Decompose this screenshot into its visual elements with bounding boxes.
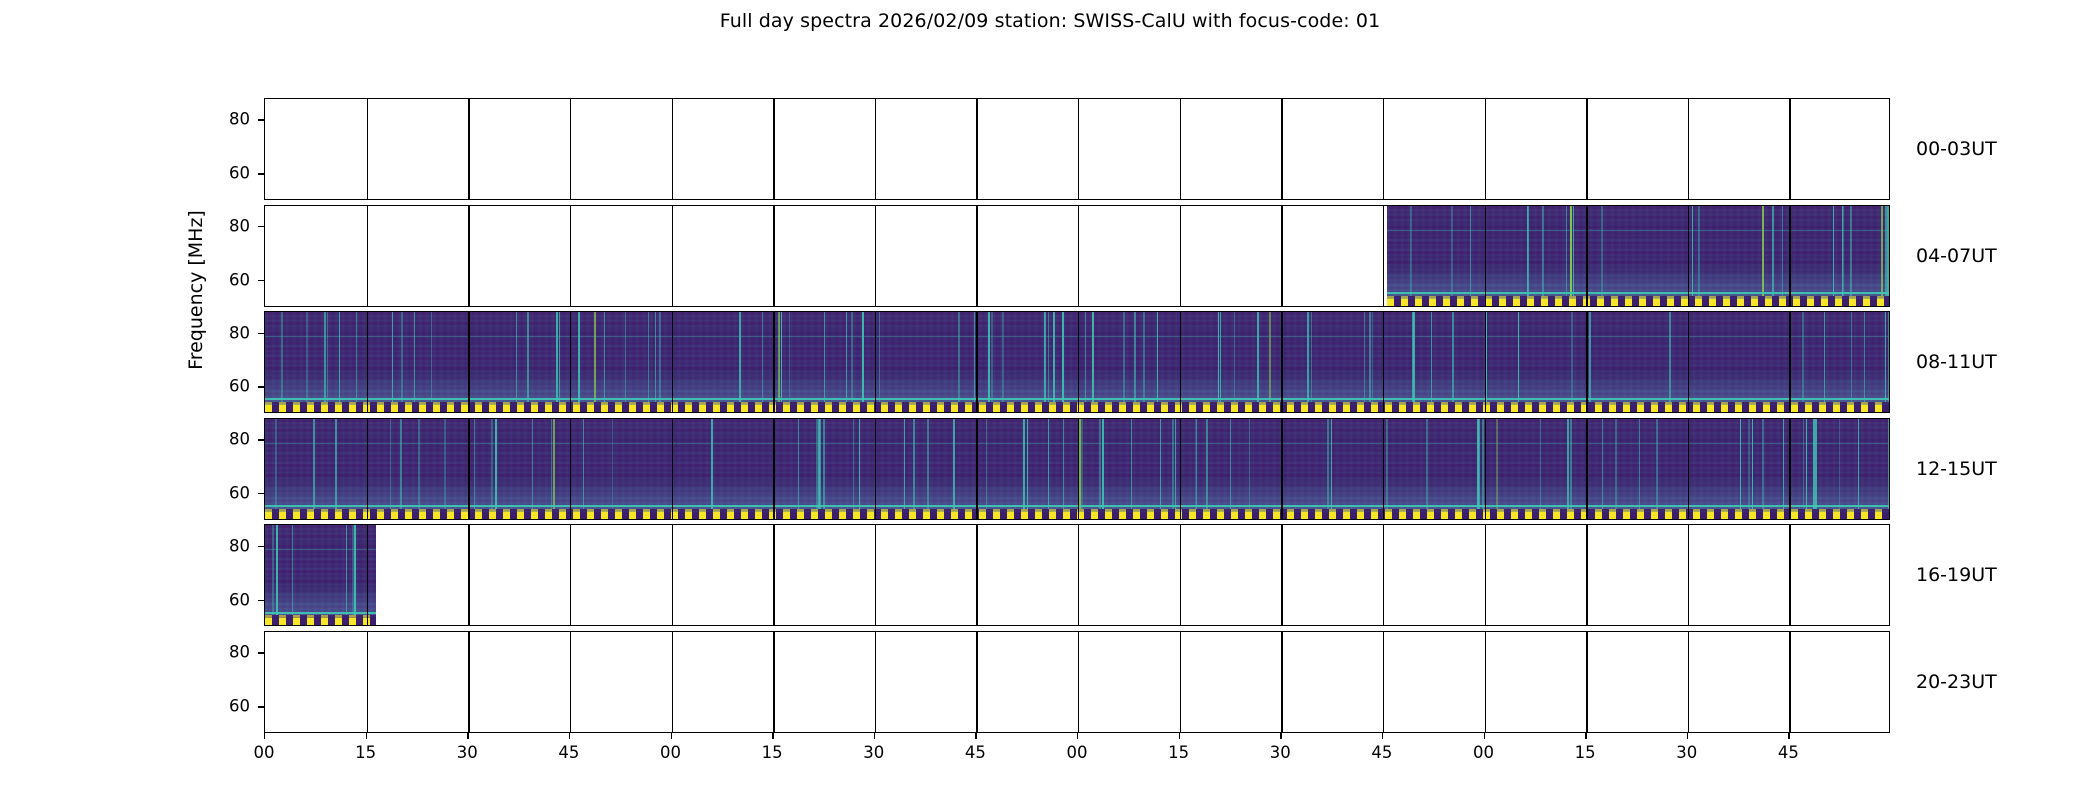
rfi-vertical-streak xyxy=(444,419,446,509)
spectrogram-panel xyxy=(264,631,1890,733)
segment-divider xyxy=(570,525,571,625)
x-axis-tick xyxy=(366,733,367,739)
y-axis-tick-label: 60 xyxy=(210,377,250,396)
segment-divider xyxy=(672,525,673,625)
rfi-vertical-streak xyxy=(913,419,915,509)
rfi-vertical-streak xyxy=(1157,312,1158,402)
rfi-vertical-streak xyxy=(1806,419,1807,509)
rfi-vertical-streak xyxy=(798,419,799,509)
rfi-vertical-streak xyxy=(1257,312,1259,402)
rfi-vertical-streak xyxy=(313,419,315,509)
row-time-label: 08-11UT xyxy=(1916,351,1997,373)
x-axis-tick-label: 45 xyxy=(1768,743,1808,762)
y-axis-tick-label: 80 xyxy=(210,643,250,662)
rfi-vertical-streak xyxy=(327,312,328,402)
rfi-vertical-streak xyxy=(1815,419,1817,509)
y-axis-tick xyxy=(258,600,264,601)
panel-plot-area xyxy=(265,312,1889,412)
quarter-hour-separators xyxy=(265,632,1889,732)
rfi-vertical-streak xyxy=(527,312,529,402)
segment-divider xyxy=(1281,632,1282,732)
segment-divider xyxy=(1180,206,1181,306)
rfi-vertical-streak xyxy=(1023,419,1025,509)
rfi-vertical-streak xyxy=(1327,419,1329,509)
rfi-vertical-streak xyxy=(1567,419,1569,509)
saturated-bottom-band xyxy=(1387,299,1889,306)
segment-divider xyxy=(773,206,774,306)
rfi-vertical-streak xyxy=(1842,206,1843,296)
rfi-vertical-streak xyxy=(1172,419,1174,509)
rfi-vertical-streak xyxy=(1782,206,1783,296)
rfi-vertical-streak xyxy=(1570,419,1572,509)
segment-divider xyxy=(1078,525,1079,625)
segment-divider xyxy=(1383,99,1384,199)
rfi-vertical-streak xyxy=(1615,419,1617,509)
horizontal-emission-line xyxy=(265,612,376,614)
horizontal-emission-line-upper xyxy=(265,443,1889,444)
segment-divider xyxy=(875,206,876,306)
rfi-vertical-streak xyxy=(1881,206,1883,296)
rfi-vertical-streak xyxy=(1540,419,1541,509)
x-axis-tick-label: 30 xyxy=(1260,743,1300,762)
rfi-vertical-streak xyxy=(1143,312,1145,402)
x-axis-tick-label: 00 xyxy=(1057,743,1097,762)
rfi-vertical-streak xyxy=(655,312,656,402)
y-axis-tick xyxy=(258,173,264,174)
panel-plot-area xyxy=(265,419,1889,519)
rfi-vertical-streak xyxy=(474,419,475,509)
spectrogram-panel xyxy=(264,205,1890,307)
rfi-vertical-streak xyxy=(418,419,420,509)
rfi-vertical-streak xyxy=(495,419,497,509)
rfi-vertical-streak xyxy=(276,525,278,615)
segment-divider xyxy=(1586,632,1587,732)
rfi-vertical-streak xyxy=(1772,206,1774,296)
x-axis-tick-label: 00 xyxy=(1464,743,1504,762)
rfi-vertical-streak xyxy=(1234,312,1235,402)
segment-divider xyxy=(1485,99,1486,199)
y-axis-tick-label: 80 xyxy=(210,323,250,342)
rfi-vertical-streak xyxy=(1431,312,1432,402)
rfi-vertical-streak xyxy=(1002,312,1004,402)
segment-divider xyxy=(1485,632,1486,732)
spectrogram-panel xyxy=(264,418,1890,520)
y-axis-tick-label: 60 xyxy=(210,697,250,716)
rfi-vertical-streak xyxy=(1048,419,1049,509)
rfi-vertical-streak xyxy=(1195,419,1196,509)
rfi-vertical-streak xyxy=(400,419,402,509)
x-axis-tick-label: 00 xyxy=(244,743,284,762)
rfi-vertical-streak xyxy=(491,419,493,509)
rfi-vertical-streak xyxy=(1839,419,1840,509)
rfi-vertical-streak xyxy=(1762,206,1764,296)
y-axis-tick-label: 80 xyxy=(210,110,250,129)
saturated-bottom-band xyxy=(265,618,376,625)
y-axis-tick xyxy=(258,439,264,440)
segment-divider xyxy=(1789,99,1790,199)
rfi-vertical-streak xyxy=(1451,206,1453,296)
rfi-vertical-streak xyxy=(1102,419,1104,509)
rfi-vertical-streak xyxy=(612,419,613,509)
rfi-vertical-streak xyxy=(1692,206,1693,296)
rfi-vertical-streak xyxy=(862,312,864,402)
segment-divider xyxy=(468,525,469,625)
segment-divider xyxy=(976,632,977,732)
rfi-vertical-streak xyxy=(816,419,818,509)
row-time-label: 00-03UT xyxy=(1916,138,1997,160)
rfi-vertical-streak xyxy=(1824,312,1825,402)
rfi-vertical-streak xyxy=(553,419,555,509)
y-axis-tick-label: 80 xyxy=(210,536,250,555)
rfi-vertical-streak xyxy=(1887,206,1889,296)
rfi-vertical-streak xyxy=(1062,312,1064,402)
rfi-vertical-streak xyxy=(275,419,277,509)
rfi-vertical-streak xyxy=(824,312,825,402)
rfi-vertical-streak xyxy=(1206,419,1208,509)
rfi-vertical-streak xyxy=(1134,312,1136,402)
x-axis-tick-label: 15 xyxy=(1159,743,1199,762)
rfi-vertical-streak xyxy=(823,419,825,509)
rfi-vertical-streak xyxy=(1669,312,1671,402)
saturated-bottom-band xyxy=(265,512,1889,519)
rfi-vertical-streak xyxy=(1311,312,1312,402)
x-axis-tick-label: 15 xyxy=(1565,743,1605,762)
segment-divider xyxy=(1180,632,1181,732)
x-axis-tick-label: 15 xyxy=(752,743,792,762)
y-axis-tick-label: 60 xyxy=(210,164,250,183)
segment-divider xyxy=(1383,525,1384,625)
x-axis-tick xyxy=(671,733,672,739)
rfi-vertical-streak xyxy=(853,419,854,509)
rfi-vertical-streak xyxy=(1452,312,1454,402)
panel-plot-area xyxy=(265,99,1889,199)
rfi-vertical-streak xyxy=(556,312,558,402)
segment-divider xyxy=(672,99,673,199)
figure-title: Full day spectra 2026/02/09 station: SWI… xyxy=(0,10,2100,32)
row-time-label: 16-19UT xyxy=(1916,564,1997,586)
segment-divider xyxy=(570,206,571,306)
x-axis-tick-label: 15 xyxy=(346,743,386,762)
rfi-vertical-streak xyxy=(1372,312,1373,402)
segment-divider xyxy=(367,632,368,732)
x-axis-tick xyxy=(1484,733,1485,739)
segment-divider xyxy=(672,632,673,732)
quarter-hour-separators xyxy=(265,525,1889,625)
rfi-vertical-streak xyxy=(1601,206,1603,296)
x-axis-tick xyxy=(975,733,976,739)
rfi-vertical-streak xyxy=(819,419,821,509)
x-axis-tick xyxy=(1077,733,1078,739)
rfi-vertical-streak xyxy=(1566,206,1567,296)
rfi-vertical-streak xyxy=(578,312,580,402)
rfi-vertical-streak xyxy=(356,312,357,402)
rfi-vertical-streak xyxy=(1063,419,1064,509)
rfi-vertical-streak xyxy=(927,419,929,509)
rfi-vertical-streak xyxy=(904,419,905,509)
segment-divider xyxy=(367,206,368,306)
x-axis-tick xyxy=(1179,733,1180,739)
rfi-vertical-streak xyxy=(594,312,596,402)
quarter-hour-separators xyxy=(265,99,1889,199)
y-axis-tick xyxy=(258,493,264,494)
rfi-vertical-streak xyxy=(1092,312,1094,402)
rfi-vertical-streak xyxy=(1740,419,1741,509)
rfi-vertical-streak xyxy=(431,312,432,402)
rfi-vertical-streak xyxy=(390,419,391,509)
segment-divider xyxy=(1281,99,1282,199)
segment-divider xyxy=(1383,632,1384,732)
rfi-vertical-streak xyxy=(1748,419,1750,509)
rfi-vertical-streak xyxy=(986,419,987,509)
rfi-vertical-streak xyxy=(711,419,713,509)
segment-divider xyxy=(1078,632,1079,732)
rfi-vertical-streak xyxy=(1802,312,1804,402)
rfi-vertical-streak xyxy=(859,419,860,509)
segment-divider xyxy=(468,99,469,199)
segment-divider xyxy=(976,525,977,625)
segment-divider xyxy=(1586,525,1587,625)
segment-divider xyxy=(1485,525,1486,625)
rfi-vertical-streak xyxy=(1160,419,1161,509)
panel-plot-area xyxy=(265,632,1889,732)
segment-divider xyxy=(1789,525,1790,625)
x-axis-tick xyxy=(874,733,875,739)
segment-divider xyxy=(1281,525,1282,625)
rfi-vertical-streak xyxy=(1573,206,1574,296)
x-axis-tick xyxy=(1382,733,1383,739)
x-axis-tick-label: 30 xyxy=(1667,743,1707,762)
rfi-vertical-streak xyxy=(354,525,356,615)
rfi-vertical-streak xyxy=(625,312,626,402)
segment-divider xyxy=(1078,206,1079,306)
rfi-vertical-streak xyxy=(1085,312,1086,402)
y-axis-tick xyxy=(258,706,264,707)
x-axis-tick-label: 00 xyxy=(651,743,691,762)
horizontal-emission-line xyxy=(265,505,1889,507)
rfi-vertical-streak xyxy=(1864,312,1865,402)
horizontal-emission-line xyxy=(265,398,1889,400)
y-axis-tick xyxy=(258,119,264,120)
rfi-vertical-streak xyxy=(1131,419,1132,509)
rfi-vertical-streak xyxy=(1762,419,1764,509)
segment-divider xyxy=(1383,206,1384,306)
rfi-vertical-streak xyxy=(739,312,741,402)
y-axis-label: Frequency [MHz] xyxy=(185,210,207,370)
x-axis-tick xyxy=(1687,733,1688,739)
rfi-vertical-streak xyxy=(306,312,308,402)
rfi-vertical-streak xyxy=(778,312,780,402)
rfi-vertical-streak xyxy=(1542,206,1544,296)
segment-divider xyxy=(773,99,774,199)
y-axis-tick-label: 60 xyxy=(210,270,250,289)
x-axis-tick-label: 45 xyxy=(1362,743,1402,762)
segment-divider xyxy=(672,206,673,306)
rfi-vertical-streak xyxy=(1218,312,1219,402)
segment-divider xyxy=(367,99,368,199)
x-axis-tick xyxy=(467,733,468,739)
segment-divider xyxy=(570,99,571,199)
rfi-vertical-streak xyxy=(392,312,393,402)
rfi-vertical-streak xyxy=(1099,419,1101,509)
rfi-vertical-streak xyxy=(272,525,274,615)
rfi-vertical-streak xyxy=(1888,419,1889,509)
rfi-vertical-streak xyxy=(532,419,533,509)
rfi-vertical-streak xyxy=(1081,419,1083,509)
rfi-vertical-streak xyxy=(1331,419,1332,509)
segment-divider xyxy=(875,525,876,625)
y-axis-tick xyxy=(258,386,264,387)
rfi-vertical-streak xyxy=(1885,312,1886,402)
rfi-vertical-streak xyxy=(281,312,283,402)
rfi-vertical-streak xyxy=(1364,312,1365,402)
x-axis-tick-label: 30 xyxy=(854,743,894,762)
rfi-vertical-streak xyxy=(1589,312,1591,402)
horizontal-emission-line-upper xyxy=(1387,230,1889,231)
panel-plot-area xyxy=(265,206,1889,306)
rfi-vertical-streak xyxy=(1269,312,1271,402)
rfi-vertical-streak xyxy=(1410,206,1412,296)
segment-divider xyxy=(1586,99,1587,199)
rfi-vertical-streak xyxy=(1833,206,1834,296)
rfi-vertical-streak xyxy=(1656,419,1658,509)
horizontal-emission-line-upper xyxy=(265,549,376,550)
rfi-vertical-streak xyxy=(1602,419,1603,509)
row-time-label: 04-07UT xyxy=(1916,245,1997,267)
x-axis-tick xyxy=(569,733,570,739)
x-axis-tick xyxy=(264,733,265,739)
segment-divider xyxy=(773,525,774,625)
x-axis-tick xyxy=(1788,733,1789,739)
rfi-vertical-streak xyxy=(1496,419,1498,509)
rfi-vertical-streak xyxy=(1698,206,1700,296)
x-axis-tick xyxy=(1585,733,1586,739)
rfi-vertical-streak xyxy=(1175,419,1176,509)
rfi-vertical-streak xyxy=(1048,312,1049,402)
rfi-vertical-streak xyxy=(659,312,661,402)
segment-divider xyxy=(976,99,977,199)
rfi-vertical-streak xyxy=(1220,312,1221,402)
rfi-vertical-streak xyxy=(1888,312,1889,402)
segment-divider xyxy=(1688,99,1689,199)
figure-canvas: Full day spectra 2026/02/09 station: SWI… xyxy=(0,0,2100,800)
spectrogram-data-region xyxy=(265,419,1889,519)
row-time-label: 12-15UT xyxy=(1916,458,1997,480)
y-axis-tick xyxy=(258,652,264,653)
y-axis-tick-label: 80 xyxy=(210,430,250,449)
rfi-vertical-streak xyxy=(1123,312,1125,402)
rfi-vertical-streak xyxy=(1850,206,1852,296)
segment-divider xyxy=(1281,206,1282,306)
spectrogram-data-region xyxy=(265,312,1889,412)
rfi-vertical-streak xyxy=(1412,312,1414,402)
rfi-vertical-streak xyxy=(1518,312,1519,402)
rfi-vertical-streak xyxy=(988,312,990,402)
y-axis-tick xyxy=(258,280,264,281)
rfi-vertical-streak xyxy=(339,312,340,402)
rfi-vertical-streak xyxy=(1386,419,1388,509)
rfi-vertical-streak xyxy=(1851,312,1852,402)
rfi-vertical-streak xyxy=(292,525,293,615)
rfi-vertical-streak xyxy=(851,312,853,402)
segment-divider xyxy=(570,632,571,732)
rfi-vertical-streak xyxy=(1470,206,1471,296)
y-axis-tick xyxy=(258,226,264,227)
rfi-vertical-streak xyxy=(1369,312,1371,402)
x-axis-tick-label: 45 xyxy=(955,743,995,762)
horizontal-emission-line-upper xyxy=(265,336,1889,337)
segment-divider xyxy=(468,206,469,306)
y-axis-tick-label: 60 xyxy=(210,590,250,609)
rfi-vertical-streak xyxy=(1486,312,1487,402)
segment-divider xyxy=(468,632,469,732)
segment-divider xyxy=(875,99,876,199)
rfi-vertical-streak xyxy=(346,525,347,615)
rfi-vertical-streak xyxy=(1426,419,1428,509)
rfi-vertical-streak xyxy=(958,312,960,402)
rfi-vertical-streak xyxy=(1571,312,1573,402)
segment-divider xyxy=(1180,525,1181,625)
horizontal-emission-line xyxy=(1387,292,1889,294)
rfi-vertical-streak xyxy=(583,419,584,509)
segment-divider xyxy=(976,206,977,306)
rfi-vertical-streak xyxy=(604,312,605,402)
segment-divider xyxy=(1789,632,1790,732)
panel-plot-area xyxy=(265,525,1889,625)
rfi-vertical-streak xyxy=(1752,419,1753,509)
y-axis-tick xyxy=(258,546,264,547)
spectrogram-data-region xyxy=(265,525,376,625)
rfi-vertical-streak xyxy=(1027,419,1028,509)
x-axis-tick xyxy=(1280,733,1281,739)
rfi-vertical-streak xyxy=(991,312,993,402)
rfi-vertical-streak xyxy=(1249,419,1250,509)
segment-divider xyxy=(773,632,774,732)
spectrogram-data-region xyxy=(1387,206,1889,306)
rfi-vertical-streak xyxy=(414,312,415,402)
y-axis-tick-label: 60 xyxy=(210,483,250,502)
segment-divider xyxy=(1180,99,1181,199)
segment-divider xyxy=(1688,525,1689,625)
x-axis-tick-label: 45 xyxy=(549,743,589,762)
spectrogram-panel xyxy=(264,311,1890,413)
rfi-vertical-streak xyxy=(781,312,782,402)
rfi-vertical-streak xyxy=(879,312,880,402)
rfi-vertical-streak xyxy=(1803,419,1804,509)
rfi-vertical-streak xyxy=(974,312,975,402)
rfi-vertical-streak xyxy=(335,419,337,509)
saturated-bottom-band xyxy=(265,405,1889,412)
rfi-vertical-streak xyxy=(1482,419,1484,509)
rfi-vertical-streak xyxy=(551,419,552,509)
rfi-vertical-streak xyxy=(1858,419,1859,509)
rfi-vertical-streak xyxy=(953,419,955,509)
rfi-vertical-streak xyxy=(1044,312,1046,402)
rfi-vertical-streak xyxy=(516,312,517,402)
rfi-vertical-streak xyxy=(401,312,403,402)
rfi-vertical-streak xyxy=(1527,206,1529,296)
spectrogram-panel xyxy=(264,98,1890,200)
rfi-vertical-streak xyxy=(648,312,649,402)
x-axis-tick xyxy=(772,733,773,739)
segment-divider xyxy=(875,632,876,732)
rfi-vertical-streak xyxy=(1307,312,1309,402)
rfi-vertical-streak xyxy=(1383,419,1384,509)
y-axis-tick xyxy=(258,333,264,334)
rfi-vertical-streak xyxy=(1477,419,1479,509)
x-axis-tick-label: 30 xyxy=(447,743,487,762)
segment-divider xyxy=(1688,632,1689,732)
rfi-vertical-streak xyxy=(1639,419,1640,509)
